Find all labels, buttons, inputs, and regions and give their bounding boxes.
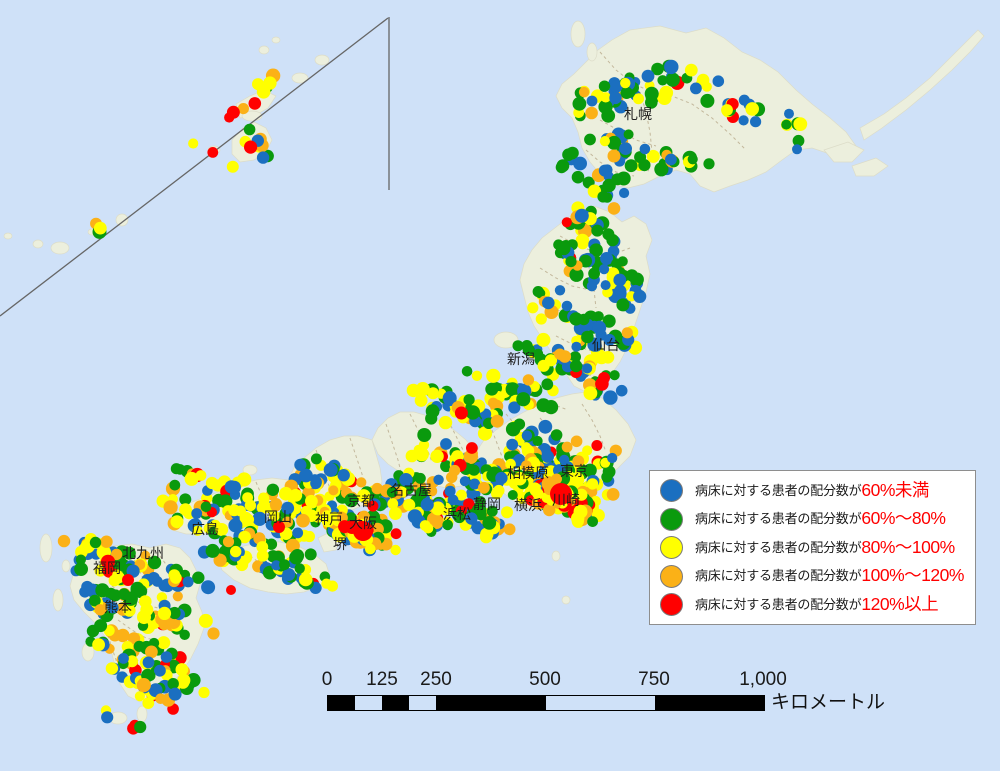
marker-dot <box>619 188 629 198</box>
marker-dot <box>206 544 220 558</box>
marker-dot <box>449 465 460 476</box>
island-hachijo <box>562 596 570 604</box>
marker-dot <box>601 471 612 482</box>
circle-marker-red-icon <box>660 593 683 616</box>
marker-dot <box>94 222 107 235</box>
marker-dot <box>587 281 597 291</box>
scale-tick-750: 750 <box>638 669 670 691</box>
city-label-6: 横浜 <box>514 497 542 513</box>
marker-dot <box>58 535 70 547</box>
marker-dot <box>199 614 213 628</box>
scale-tick-0: 0 <box>322 669 333 691</box>
city-label-17: 福岡 <box>93 560 121 576</box>
marker-dot <box>468 465 479 476</box>
marker-dot <box>486 369 500 383</box>
legend-row-4: 病床に対する患者の配分数が120%以上 <box>660 591 965 618</box>
marker-dot <box>198 687 209 698</box>
marker-dot-hotspot <box>122 574 134 586</box>
marker-dot <box>573 157 587 171</box>
marker-dot <box>177 674 190 687</box>
marker-dot <box>599 264 609 274</box>
island-rishiri <box>571 21 585 47</box>
island-tsushima <box>40 534 52 562</box>
marker-dot <box>513 340 524 351</box>
marker-dot <box>633 290 646 303</box>
marker-dot <box>432 452 443 463</box>
scale-tick-labels: 01252505007501,000 <box>325 669 865 693</box>
marker-dot <box>793 117 807 131</box>
marker-dot <box>267 484 279 496</box>
marker-dot <box>527 302 538 313</box>
marker-dot <box>464 394 475 405</box>
marker-dot <box>420 520 431 531</box>
marker-dot <box>541 450 554 463</box>
marker-dot <box>118 653 129 664</box>
marker-dot <box>642 70 655 83</box>
island-okinoerabu <box>315 55 329 65</box>
marker-dot <box>584 386 598 400</box>
marker-dot <box>305 548 317 560</box>
city-label-3: 相模原 <box>507 465 549 481</box>
marker-dot <box>299 573 313 587</box>
marker-dot <box>100 536 112 548</box>
marker-dot <box>324 463 338 477</box>
marker-dot <box>106 662 118 674</box>
marker-dot <box>389 507 402 520</box>
marker-dot <box>164 500 178 514</box>
marker-dot <box>168 678 179 689</box>
marker-dot <box>784 109 794 119</box>
city-label-16: 北九州 <box>122 545 164 561</box>
marker-dot <box>600 136 610 146</box>
circle-marker-blue-icon <box>660 479 683 502</box>
marker-dot <box>606 234 618 246</box>
city-label-13: 堺 <box>333 536 347 552</box>
marker-dot <box>565 256 576 267</box>
marker-dot <box>403 499 415 511</box>
marker-dot <box>365 544 376 555</box>
scale-segment-0 <box>328 696 355 710</box>
marker-dot <box>455 407 468 420</box>
marker-dot <box>154 665 166 677</box>
marker-dot <box>625 159 638 172</box>
marker-dot <box>538 360 550 372</box>
marker-dot <box>613 274 626 287</box>
marker-dot <box>665 154 677 166</box>
island-yonaguni <box>4 233 12 239</box>
marker-dot <box>295 563 305 573</box>
marker-dot <box>328 485 338 495</box>
circle-marker-orange-icon <box>660 565 683 588</box>
scale-segment-3 <box>409 696 436 710</box>
legend-row-3: 病床に対する患者の配分数が100%〜120% <box>660 563 965 590</box>
marker-dot <box>169 688 182 701</box>
marker-dot <box>538 420 552 434</box>
marker-dot <box>230 546 241 557</box>
city-label-4: 東京 <box>560 463 588 479</box>
marker-dot <box>228 504 240 516</box>
legend-row-1: 病床に対する患者の配分数が60%〜80% <box>660 506 965 533</box>
marker-dot <box>557 241 571 255</box>
marker-dot <box>421 498 434 511</box>
marker-dot <box>541 378 553 390</box>
marker-dot <box>257 85 271 99</box>
marker-dot <box>620 78 630 88</box>
marker-dot <box>585 107 598 120</box>
marker-dot-hotspot <box>598 372 610 384</box>
marker-dot <box>664 60 678 74</box>
marker-dot <box>591 225 603 237</box>
marker-dot <box>460 476 470 486</box>
marker-dot <box>516 392 530 406</box>
marker-dot <box>700 94 714 108</box>
marker-dot <box>582 363 592 373</box>
marker-dot <box>569 312 582 325</box>
legend-label-4: 病床に対する患者の配分数が120%以上 <box>695 596 938 614</box>
marker-dot <box>571 342 581 352</box>
legend-label-1: 病床に対する患者の配分数が60%〜80% <box>695 510 945 528</box>
marker-dot <box>562 217 572 227</box>
marker-dot <box>591 440 602 451</box>
marker-dot <box>609 92 621 104</box>
marker-dot <box>593 311 603 321</box>
marker-dot <box>158 607 171 620</box>
marker-dot <box>191 508 202 519</box>
marker-dot <box>171 463 182 474</box>
marker-dot <box>713 75 725 87</box>
legend-label-3: 病床に対する患者の配分数が100%〜120% <box>695 567 964 585</box>
marker-dot <box>554 349 565 360</box>
marker-dot <box>289 489 302 502</box>
city-label-9: 名古屋 <box>390 482 432 498</box>
marker-dot <box>169 480 180 491</box>
marker-dot <box>244 141 257 154</box>
marker-dot <box>600 252 613 265</box>
marker-dot <box>573 97 587 111</box>
marker-dot <box>575 209 589 223</box>
marker-dot <box>620 87 632 99</box>
marker-dot <box>514 419 525 430</box>
island-yoron <box>259 46 269 54</box>
marker-dot <box>81 581 93 593</box>
marker-dot <box>92 638 105 651</box>
marker-dot <box>439 416 452 429</box>
marker-dot <box>659 86 673 100</box>
marker-dot <box>387 498 398 509</box>
marker-dot <box>338 469 350 481</box>
marker-dot <box>201 502 212 513</box>
legend-row-0: 病床に対する患者の配分数が60%未満 <box>660 477 965 504</box>
marker-dot <box>311 453 322 464</box>
marker-dot <box>76 555 86 565</box>
marker-dot <box>279 559 290 570</box>
marker-dot <box>622 327 633 338</box>
city-label-7: 静岡 <box>473 496 501 512</box>
marker-dot <box>608 150 621 163</box>
marker-dot <box>551 429 563 441</box>
marker-dot <box>572 171 585 184</box>
marker-dot <box>587 516 598 527</box>
marker-dot <box>599 81 610 92</box>
marker-dot <box>688 154 698 164</box>
marker-dot <box>408 509 422 523</box>
circle-marker-green-icon <box>660 508 683 531</box>
marker-dot <box>101 711 113 723</box>
marker-dot <box>624 129 634 139</box>
marker-dot <box>562 301 573 312</box>
marker-dot <box>135 691 145 701</box>
marker-dot <box>607 453 617 463</box>
marker-dot <box>391 528 402 539</box>
marker-dot <box>137 678 151 692</box>
marker-dot <box>245 500 256 511</box>
marker-dot <box>249 97 262 110</box>
marker-dot <box>173 591 183 601</box>
marker-dot <box>491 415 504 428</box>
city-label-5: 川崎 <box>552 492 580 508</box>
marker-dot <box>626 269 638 281</box>
marker-dot <box>417 428 431 442</box>
island-izu-oshima <box>552 551 560 561</box>
marker-dot <box>523 374 534 385</box>
island-rebun <box>587 43 597 61</box>
marker-dot <box>781 120 791 130</box>
marker-dot <box>257 151 269 163</box>
scale-tick-1000: 1,000 <box>739 669 787 691</box>
island-tarama <box>33 240 43 248</box>
marker-dot <box>721 104 733 116</box>
marker-dot <box>616 298 629 311</box>
marker-dot <box>522 430 532 440</box>
marker-dot <box>573 516 584 527</box>
marker-dot <box>462 366 473 377</box>
marker-dot <box>116 629 129 642</box>
marker-dot <box>258 493 269 504</box>
city-label-11: 大阪 <box>349 515 377 531</box>
scale-segment-6 <box>655 696 764 710</box>
marker-dot <box>501 506 513 518</box>
marker-dot <box>533 436 543 446</box>
city-label-14: 岡山 <box>264 509 292 525</box>
marker-dot <box>555 285 565 295</box>
marker-dot <box>506 439 518 451</box>
city-label-18: 熊本 <box>104 599 132 615</box>
marker-dot <box>597 191 608 202</box>
city-label-15: 広島 <box>191 521 219 537</box>
marker-dot <box>183 576 194 587</box>
city-label-2: 新潟 <box>507 351 535 367</box>
city-label-10: 京都 <box>347 493 375 509</box>
island-iki <box>62 560 70 572</box>
island-goto <box>53 589 63 611</box>
marker-dot <box>645 87 659 101</box>
marker-dot <box>601 280 611 290</box>
circle-marker-yellow-icon <box>660 536 683 559</box>
marker-dot-hotspot <box>226 585 236 595</box>
marker-dot <box>225 480 238 493</box>
marker-dot <box>533 286 544 297</box>
marker-dot <box>289 551 303 565</box>
marker-dot <box>592 321 606 335</box>
legend-box[interactable]: 病床に対する患者の配分数が60%未満 病床に対する患者の配分数が60%〜80% … <box>649 470 976 625</box>
scale-tick-500: 500 <box>529 669 561 691</box>
marker-dot <box>690 83 702 95</box>
marker-dot <box>161 651 173 663</box>
marker-dot <box>206 477 218 489</box>
marker-dot <box>201 580 215 594</box>
marker-dot <box>616 385 628 397</box>
marker-dot <box>257 550 269 562</box>
marker-dot <box>537 398 551 412</box>
marker-dot <box>703 158 714 169</box>
marker-dot <box>571 436 583 448</box>
marker-dot <box>227 106 240 119</box>
marker-dot <box>90 537 101 548</box>
marker-dot <box>243 514 254 525</box>
marker-dot <box>445 486 456 497</box>
marker-dot <box>196 470 207 481</box>
marker-dot <box>472 371 482 381</box>
scale-unit-label: キロメートル <box>771 695 885 711</box>
marker-dot <box>588 268 600 280</box>
island-miyako <box>51 242 69 254</box>
marker-dot <box>415 447 429 461</box>
marker-dot <box>478 482 490 494</box>
scale-segment-2 <box>382 696 409 710</box>
marker-dot <box>427 387 439 399</box>
marker-dot <box>666 73 680 87</box>
city-label-8: 浜松 <box>443 506 471 522</box>
marker-dot <box>542 297 555 310</box>
city-label-1: 仙台 <box>592 337 620 353</box>
legend-row-2: 病床に対する患者の配分数が80%〜100% <box>660 534 965 561</box>
marker-dot <box>657 75 667 85</box>
marker-dot <box>614 285 626 297</box>
marker-dot <box>584 134 596 146</box>
marker-dot <box>292 528 303 539</box>
marker-dot <box>305 495 318 508</box>
marker-dot <box>739 115 749 125</box>
scale-segment-5 <box>546 696 655 710</box>
scale-tick-250: 250 <box>420 669 452 691</box>
island-ishigaki <box>116 214 128 226</box>
marker-dot <box>562 442 573 453</box>
marker-dot <box>579 87 589 97</box>
marker-dot <box>227 161 239 173</box>
marker-dot <box>485 383 498 396</box>
marker-dot <box>570 360 582 372</box>
marker-dot <box>299 469 313 483</box>
scale-segment-1 <box>355 696 382 710</box>
marker-dot <box>792 144 802 154</box>
marker-dot <box>587 478 598 489</box>
city-label-0: 札幌 <box>624 106 652 122</box>
marker-dot <box>143 657 155 669</box>
marker-dot <box>745 102 759 116</box>
marker-dot <box>321 579 331 589</box>
legend-label-0: 病床に対する患者の配分数が60%未満 <box>695 482 929 500</box>
marker-dot <box>608 202 621 215</box>
marker-dot <box>296 514 310 528</box>
marker-dot <box>577 238 588 249</box>
map-canvas[interactable]: 札幌仙台新潟相模原東京川崎横浜静岡浜松名古屋京都大阪神戸堺岡山広島北九州福岡熊本… <box>0 0 1000 771</box>
marker-dot <box>207 147 218 158</box>
scale-bar: 01252505007501,000 キロメートル <box>325 669 865 725</box>
japan-map-svg: 札幌仙台新潟相模原東京川崎横浜静岡浜松名古屋京都大阪神戸堺岡山広島北九州福岡熊本 <box>0 0 1000 771</box>
legend-label-2: 病床に対する患者の配分数が80%〜100% <box>695 539 955 557</box>
marker-dot <box>640 144 651 155</box>
marker-dot <box>603 390 617 404</box>
marker-dot <box>188 138 198 148</box>
marker-dot <box>192 572 204 584</box>
marker-dot <box>207 627 219 639</box>
marker-dot <box>433 475 443 485</box>
island-kikai <box>272 37 280 43</box>
marker-dot <box>587 96 598 107</box>
marker-dot <box>482 516 496 530</box>
marker-dot <box>440 438 452 450</box>
marker-dot <box>134 721 146 733</box>
marker-dot <box>582 445 592 455</box>
marker-dot <box>504 523 516 535</box>
marker-dot <box>170 572 182 584</box>
marker-dot <box>557 159 570 172</box>
marker-dot <box>152 576 163 587</box>
island-yakushima <box>137 706 147 722</box>
marker-dot <box>356 477 366 487</box>
marker-dot <box>702 82 712 92</box>
marker-dot <box>612 173 624 185</box>
scale-tick-125: 125 <box>366 669 398 691</box>
marker-dot <box>426 404 440 418</box>
marker-dot <box>685 64 698 77</box>
marker-dot <box>171 515 184 528</box>
marker-dot <box>536 333 550 347</box>
marker-dot <box>137 610 151 624</box>
marker-dot <box>223 536 234 547</box>
marker-dot <box>750 116 761 127</box>
marker-dot <box>495 472 507 484</box>
marker-dot <box>466 442 478 454</box>
scale-segment-4 <box>436 696 546 710</box>
marker-dot <box>145 646 158 659</box>
marker-dot <box>607 488 620 501</box>
marker-dot <box>94 619 107 632</box>
marker-dot <box>155 693 166 704</box>
marker-dot <box>244 124 256 136</box>
scale-bar-graphic <box>327 695 765 711</box>
marker-dot <box>109 575 121 587</box>
marker-dot <box>619 142 632 155</box>
city-label-12: 神戸 <box>315 511 343 527</box>
